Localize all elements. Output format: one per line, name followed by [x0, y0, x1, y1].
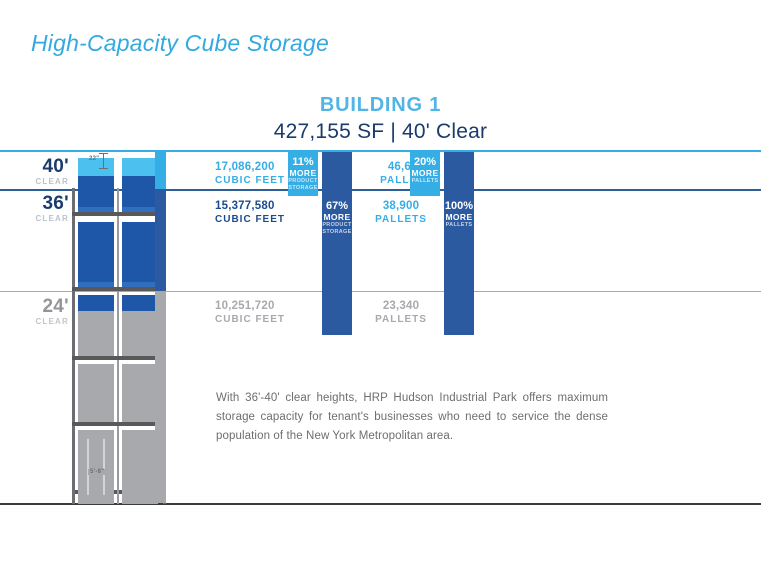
- callout-11-pct: 11%: [292, 156, 313, 168]
- pallet-base-2-left: [78, 282, 114, 287]
- pallet-load-4-left: [78, 364, 114, 422]
- pallet-load-top-right: [122, 158, 158, 176]
- pallet-load-4-right: [122, 364, 158, 422]
- pallet-load-2-left: [78, 222, 114, 282]
- cubic-feet-40: 17,086,200 CUBIC FEET: [215, 160, 285, 187]
- cubic-feet-36: 15,377,580 CUBIC FEET: [215, 199, 285, 226]
- pallet-rack-bottom-bay: [72, 433, 168, 503]
- callout-67-what2: STORAGE: [322, 229, 351, 236]
- pallets-24: 23,340 PALLETS: [365, 299, 437, 326]
- callout-20-what1: PALLETS: [412, 178, 439, 185]
- pallet-load-1-right: [122, 176, 158, 207]
- pallets-36: 38,900 PALLETS: [365, 199, 437, 226]
- accent-bar-24: [155, 291, 166, 503]
- callout-11-percent-storage: 11% MORE PRODUCT STORAGE: [288, 152, 318, 196]
- callout-20-pct: 20%: [414, 156, 436, 168]
- clear-height-36-caption: CLEAR: [17, 213, 69, 224]
- pallet-load-2-right: [122, 222, 158, 282]
- rack-upright-center-bottom: [117, 433, 119, 503]
- clear-height-24-value: 24': [17, 297, 69, 316]
- cubic-feet-36-value: 15,377,580: [215, 199, 285, 213]
- dim-tick-top: [99, 153, 108, 154]
- pallet-base-1-left: [78, 207, 114, 212]
- infographic-canvas: High-Capacity Cube Storage BUILDING 1 42…: [0, 0, 761, 588]
- cubic-feet-24-unit: CUBIC FEET: [215, 313, 285, 326]
- pallet-load-bottom-right: [122, 435, 158, 501]
- clear-height-24: 24' CLEAR: [17, 297, 69, 327]
- top-dimension-label: 22": [89, 156, 99, 162]
- pallet-load-3-right-blue: [122, 295, 158, 311]
- rack-beam-1: [72, 212, 166, 216]
- callout-67-pct: 67%: [326, 200, 348, 212]
- dim-tick-bottom: [99, 168, 108, 169]
- pallet-load-3-left-gray: [78, 311, 114, 356]
- cubic-feet-40-unit: CUBIC FEET: [215, 174, 285, 187]
- clear-height-36-value: 36': [17, 194, 69, 213]
- pallet-load-3-right-gray: [122, 311, 158, 356]
- pallets-36-value: 38,900: [365, 199, 437, 213]
- accent-bar-36: [155, 189, 166, 291]
- dim-line-top-vertical: [103, 153, 104, 169]
- cubic-feet-24: 10,251,720 CUBIC FEET: [215, 299, 285, 326]
- callout-100-pct: 100%: [445, 200, 473, 212]
- rack-beam-4: [72, 422, 166, 426]
- rack-beam-2: [72, 287, 166, 291]
- pallets-24-unit: PALLETS: [365, 313, 437, 326]
- bay-dimension-label: 5'-8": [88, 469, 106, 475]
- callout-20-more: MORE: [411, 168, 438, 178]
- page-title: High-Capacity Cube Storage: [31, 30, 329, 57]
- cubic-feet-24-value: 10,251,720: [215, 299, 285, 313]
- building-name: BUILDING 1: [0, 94, 761, 117]
- callout-20-percent-pallets: 20% MORE PALLETS: [410, 152, 440, 196]
- callout-100-more: MORE: [445, 212, 472, 222]
- callout-100-what1: PALLETS: [446, 222, 473, 229]
- pallet-base-2-right: [122, 282, 158, 287]
- callout-100-percent-pallets: 100% MORE PALLETS: [444, 152, 474, 335]
- pallets-24-value: 23,340: [365, 299, 437, 313]
- clear-height-40: 40' CLEAR: [17, 157, 69, 187]
- cubic-feet-36-unit: CUBIC FEET: [215, 213, 285, 226]
- rack-upright-left-bottom: [72, 433, 75, 503]
- callout-11-more: MORE: [289, 168, 316, 178]
- callout-67-more: MORE: [323, 212, 350, 222]
- clear-height-36: 36' CLEAR: [17, 194, 69, 224]
- accent-bar-40: [155, 150, 166, 189]
- cubic-feet-40-value: 17,086,200: [215, 160, 285, 174]
- callout-11-what2: STORAGE: [288, 185, 317, 192]
- callout-67-percent-storage: 67% MORE PRODUCT STORAGE: [322, 152, 352, 335]
- pallet-load-3-left-blue: [78, 295, 114, 311]
- pallet-load-bottom-left: [78, 435, 114, 501]
- clear-height-40-value: 40': [17, 157, 69, 176]
- pallets-36-unit: PALLETS: [365, 213, 437, 226]
- rack-beam-3: [72, 356, 166, 360]
- clear-height-40-caption: CLEAR: [17, 176, 69, 187]
- pallet-load-1-left: [78, 176, 114, 207]
- building-subtitle: 427,155 SF | 40' Clear: [0, 120, 761, 144]
- body-copy: With 36'-40' clear heights, HRP Hudson I…: [216, 389, 608, 446]
- clear-height-24-caption: CLEAR: [17, 316, 69, 327]
- pallet-base-1-right: [122, 207, 158, 212]
